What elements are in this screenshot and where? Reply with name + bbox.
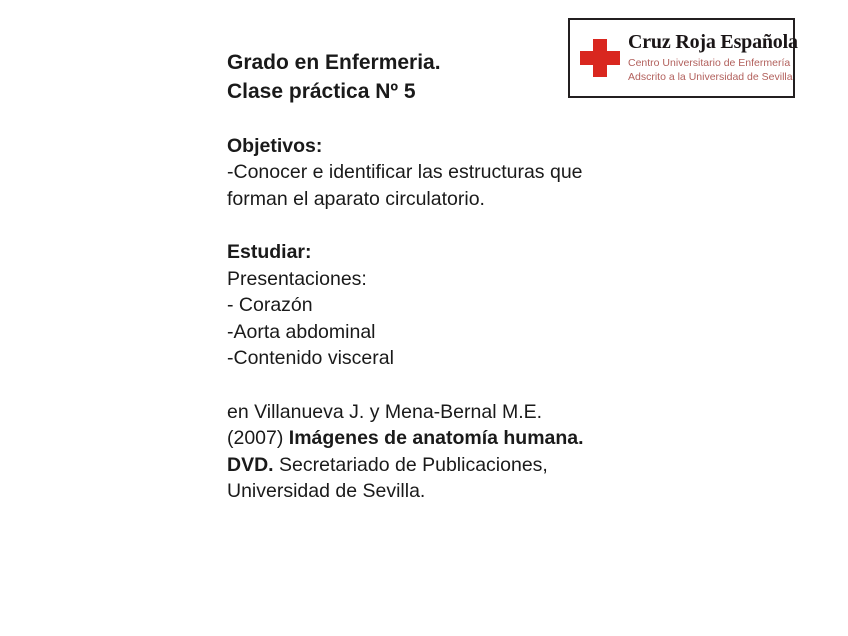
study-line-contenido-visceral: -Contenido visceral [227, 345, 647, 372]
logo-title: Cruz Roja Española [628, 32, 787, 52]
logo-subtitle-line-2: Adscrito a la Universidad de Sevilla [628, 70, 787, 84]
spacer-after-title [227, 106, 647, 133]
objectives-heading: Objetivos: [227, 133, 647, 160]
study-line-aorta-abdominal: -Aorta abdominal [227, 319, 647, 346]
title-line-2: Clase práctica Nº 5 [227, 77, 647, 106]
objectives-line-1: -Conocer e identificar las estructuras q… [227, 159, 647, 186]
logo-text-group: Cruz Roja Española Centro Universitario … [628, 32, 787, 84]
logo-subtitle-line-1: Centro Universitario de Enfermería [628, 56, 787, 70]
title-line-1: Grado en Enfermeria. [227, 48, 647, 77]
citation-line-2: (2007) Imágenes de anatomía humana. [227, 425, 647, 452]
objectives-section: Objetivos: -Conocer e identificar las es… [227, 133, 647, 213]
citation-line-4: Universidad de Sevilla. [227, 478, 647, 505]
citation-line-3: DVD. Secretariado de Publicaciones, [227, 452, 647, 479]
study-line-presentaciones: Presentaciones: [227, 266, 647, 293]
study-heading: Estudiar: [227, 239, 647, 266]
citation-publisher: Secretariado de Publicaciones, [274, 454, 548, 476]
objectives-line-2: forman el aparato circulatorio. [227, 186, 647, 213]
page-title: Grado en Enfermeria. Clase práctica Nº 5 [227, 48, 647, 106]
spacer-after-study [227, 372, 647, 399]
citation-work-title: Imágenes de anatomía humana. [289, 427, 584, 449]
citation-line-1: en Villanueva J. y Mena-Bernal M.E. [227, 399, 647, 426]
citation-section: en Villanueva J. y Mena-Bernal M.E. (200… [227, 399, 647, 505]
slide-content: Grado en Enfermeria. Clase práctica Nº 5… [227, 48, 647, 505]
study-line-corazon: - Corazón [227, 292, 647, 319]
spacer-after-objectives [227, 212, 647, 239]
citation-medium: DVD. [227, 454, 274, 476]
slide-canvas: Cruz Roja Española Centro Universitario … [0, 0, 848, 636]
citation-year: (2007) [227, 427, 289, 449]
study-section: Estudiar: Presentaciones: - Corazón -Aor… [227, 239, 647, 372]
